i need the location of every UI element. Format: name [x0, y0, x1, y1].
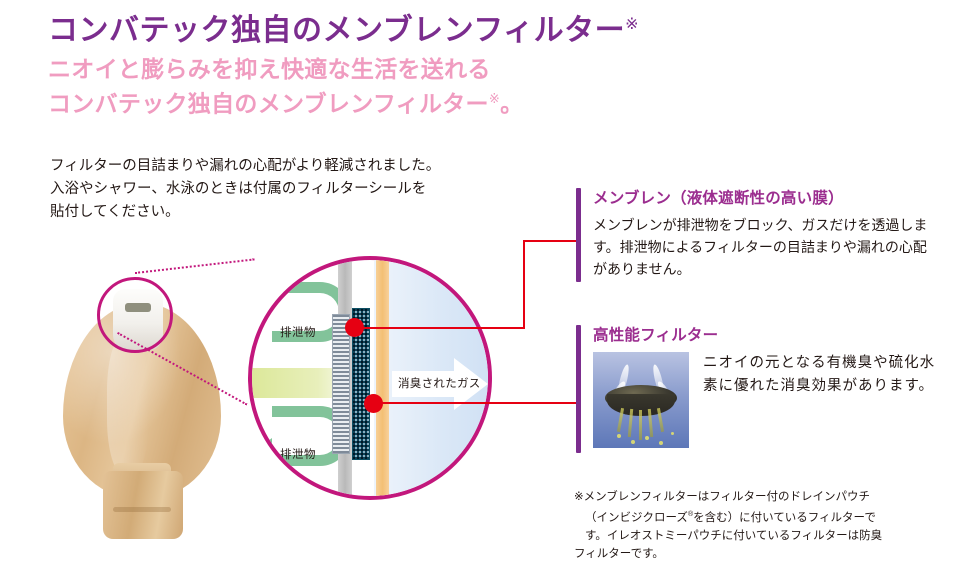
- footnote-line-4: フィルターです。: [574, 548, 664, 560]
- intro-paragraph: フィルターの目詰まりや漏れの心配がより軽減されました。 入浴やシャワー、水泳のと…: [50, 155, 520, 224]
- footnote: ※メンブレンフィルターはフィルター付のドレインパウチ （インビジクローズ®を含む…: [574, 488, 946, 563]
- panel-filter-row: ニオイの元となる有機臭や硫化水素に優れた消臭効果があります。: [593, 352, 936, 448]
- panel-filter-text: ニオイの元となる有機臭や硫化水素に優れた消臭効果があります。: [703, 352, 936, 398]
- ostomy-pouch-photo: [55, 275, 230, 550]
- subtitle-footnote-mark: ※: [489, 91, 500, 106]
- subtitle-period: 。: [500, 91, 523, 117]
- panel-filter: 高性能フィルター: [576, 325, 936, 453]
- pouch-bag-highlight: [107, 335, 149, 475]
- waste-label-top: 排泄物: [280, 324, 316, 340]
- subtitle-line-2-text: コンバテック独自のメンブレンフィルター: [48, 91, 489, 117]
- gas-label: 消臭されたガス: [398, 375, 481, 391]
- pouch-wall-outer: [376, 256, 389, 500]
- zoom-leader-top: [135, 258, 254, 274]
- intro-line-1: フィルターの目詰まりや漏れの心配がより軽減されました。: [50, 155, 520, 178]
- callout-2-segment-horizontal: [372, 402, 580, 404]
- intro-line-2: 入浴やシャワー、水泳のときは付属のフィルターシールを: [50, 178, 520, 201]
- carbon-filter-strip: [332, 314, 350, 454]
- intro-line-3: 貼付してください。: [50, 201, 520, 224]
- callout-2-anchor-dot: [364, 394, 383, 413]
- page-title-footnote-mark: ※: [625, 16, 639, 33]
- panel-filter-body: 高性能フィルター: [593, 325, 936, 448]
- arrow-head: [250, 438, 272, 472]
- subtitle-line-1: ニオイと膨らみを抑え快適な生活を送れる: [48, 54, 668, 84]
- odor-particle: [645, 436, 649, 440]
- odor-particle: [631, 440, 635, 444]
- particle-stream: [639, 410, 642, 440]
- callout-1-anchor-dot: [345, 318, 364, 337]
- pouch-clip-ridge: [113, 507, 171, 512]
- panel-membrane-accent-bar: [576, 188, 581, 282]
- infographic-root: コンバテック独自のメンブレンフィルター※ ニオイと膨らみを抑え快適な生活を送れる…: [0, 0, 956, 581]
- odor-particle: [617, 434, 621, 438]
- panel-filter-heading: 高性能フィルター: [593, 325, 936, 346]
- page-title: コンバテック独自のメンブレンフィルター※: [48, 4, 688, 52]
- panel-membrane-text: メンブレンが排泄物をブロック、ガスだけを透過します。排泄物によるフィルターの目詰…: [593, 214, 936, 280]
- page-subtitle: ニオイと膨らみを抑え快適な生活を送れる コンバテック独自のメンブレンフィルター※…: [48, 54, 668, 119]
- odor-particle: [659, 441, 663, 445]
- callout-1-segment-vertical: [523, 240, 525, 329]
- panel-membrane-heading: メンブレン（液体遮断性の高い膜）: [593, 188, 936, 209]
- footnote-line-2: （インビジクローズ®を含む）に付いているフィルターで: [574, 506, 946, 527]
- arrow-head: [250, 276, 272, 310]
- panel-membrane-body: メンブレン（液体遮断性の高い膜） メンブレンが排泄物をブロック、ガスだけを透過し…: [593, 188, 936, 280]
- subtitle-line-2: コンバテック独自のメンブレンフィルター※。: [48, 84, 668, 119]
- callout-1-segment-horizontal-lower: [355, 327, 525, 329]
- waste-label-bottom: 排泄物: [280, 446, 316, 462]
- pouch-drain-clip: [103, 471, 183, 539]
- callout-1-segment-horizontal-upper: [523, 240, 580, 242]
- panel-membrane: メンブレン（液体遮断性の高い膜） メンブレンが排泄物をブロック、ガスだけを透過し…: [576, 188, 936, 282]
- footnote-line-3: す。イレオストミーパウチに付いているフィルターは防臭: [574, 527, 946, 545]
- magnified-cross-section: 排泄物 排泄物 消臭されたガス: [248, 256, 492, 500]
- odor-particle: [671, 432, 674, 435]
- panel-filter-accent-bar: [576, 325, 581, 453]
- footnote-line-1: ※メンブレンフィルターはフィルター付のドレインパウチ: [574, 491, 870, 503]
- footnote-line-2-a: （インビジクローズ: [585, 512, 688, 524]
- footnote-line-2-b: を含む）に付いているフィルターで: [693, 512, 876, 524]
- charcoal-filter-image: [593, 352, 689, 448]
- page-title-text: コンバテック独自のメンブレンフィルター: [48, 14, 625, 47]
